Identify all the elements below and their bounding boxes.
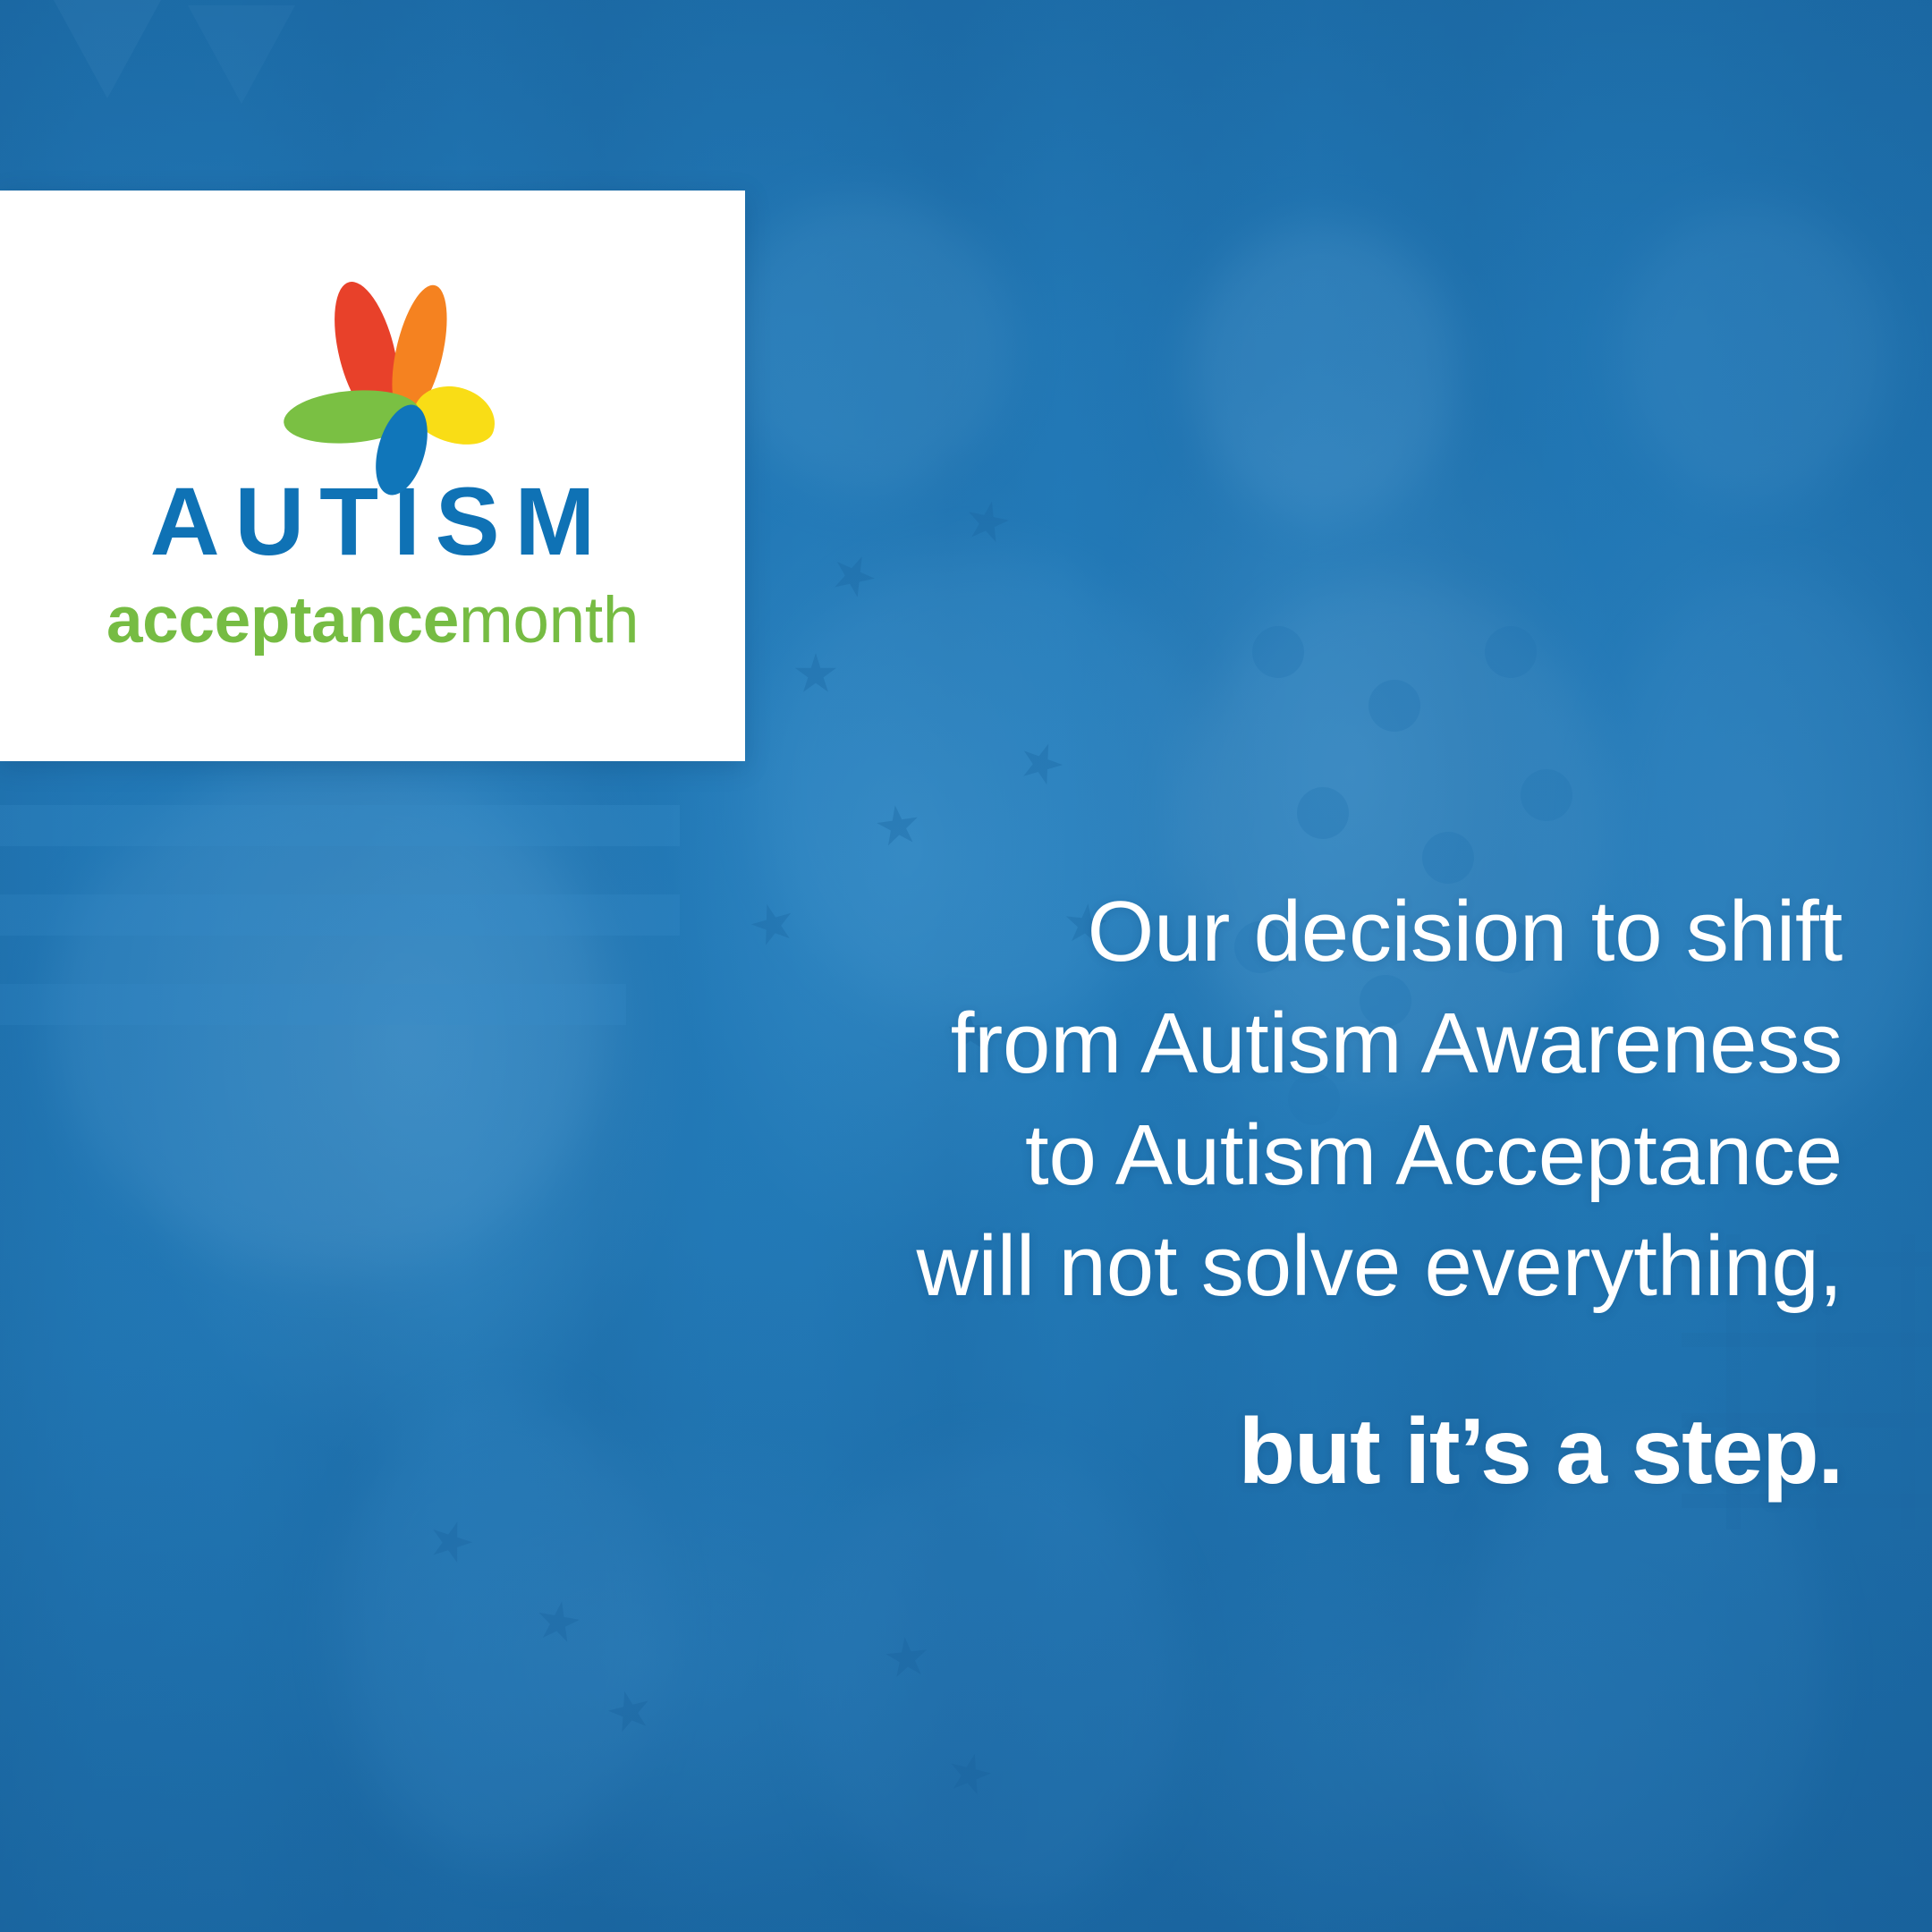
autism-acceptance-month-logo-card: AUTISM acceptancemonth [0,191,745,761]
quote-line: to Autism Acceptance [859,1100,1843,1212]
autism-acceptance-month-poster: AUTISM acceptancemonth Our decision to s… [0,0,1932,1932]
quote-block: Our decision to shift from Autism Awaren… [859,877,1843,1508]
quote-line: from Autism Awareness [859,988,1843,1100]
quote-emphasis: but it’s a step. [859,1396,1843,1508]
logo-subword-month: month [459,584,639,657]
quote-line: Our decision to shift [859,877,1843,988]
quote-line: will not solve everything, [859,1211,1843,1323]
logo-subword: acceptancemonth [106,588,639,653]
pinwheel-flower-icon [284,276,489,455]
logo-subword-acceptance: acceptance [106,584,459,657]
